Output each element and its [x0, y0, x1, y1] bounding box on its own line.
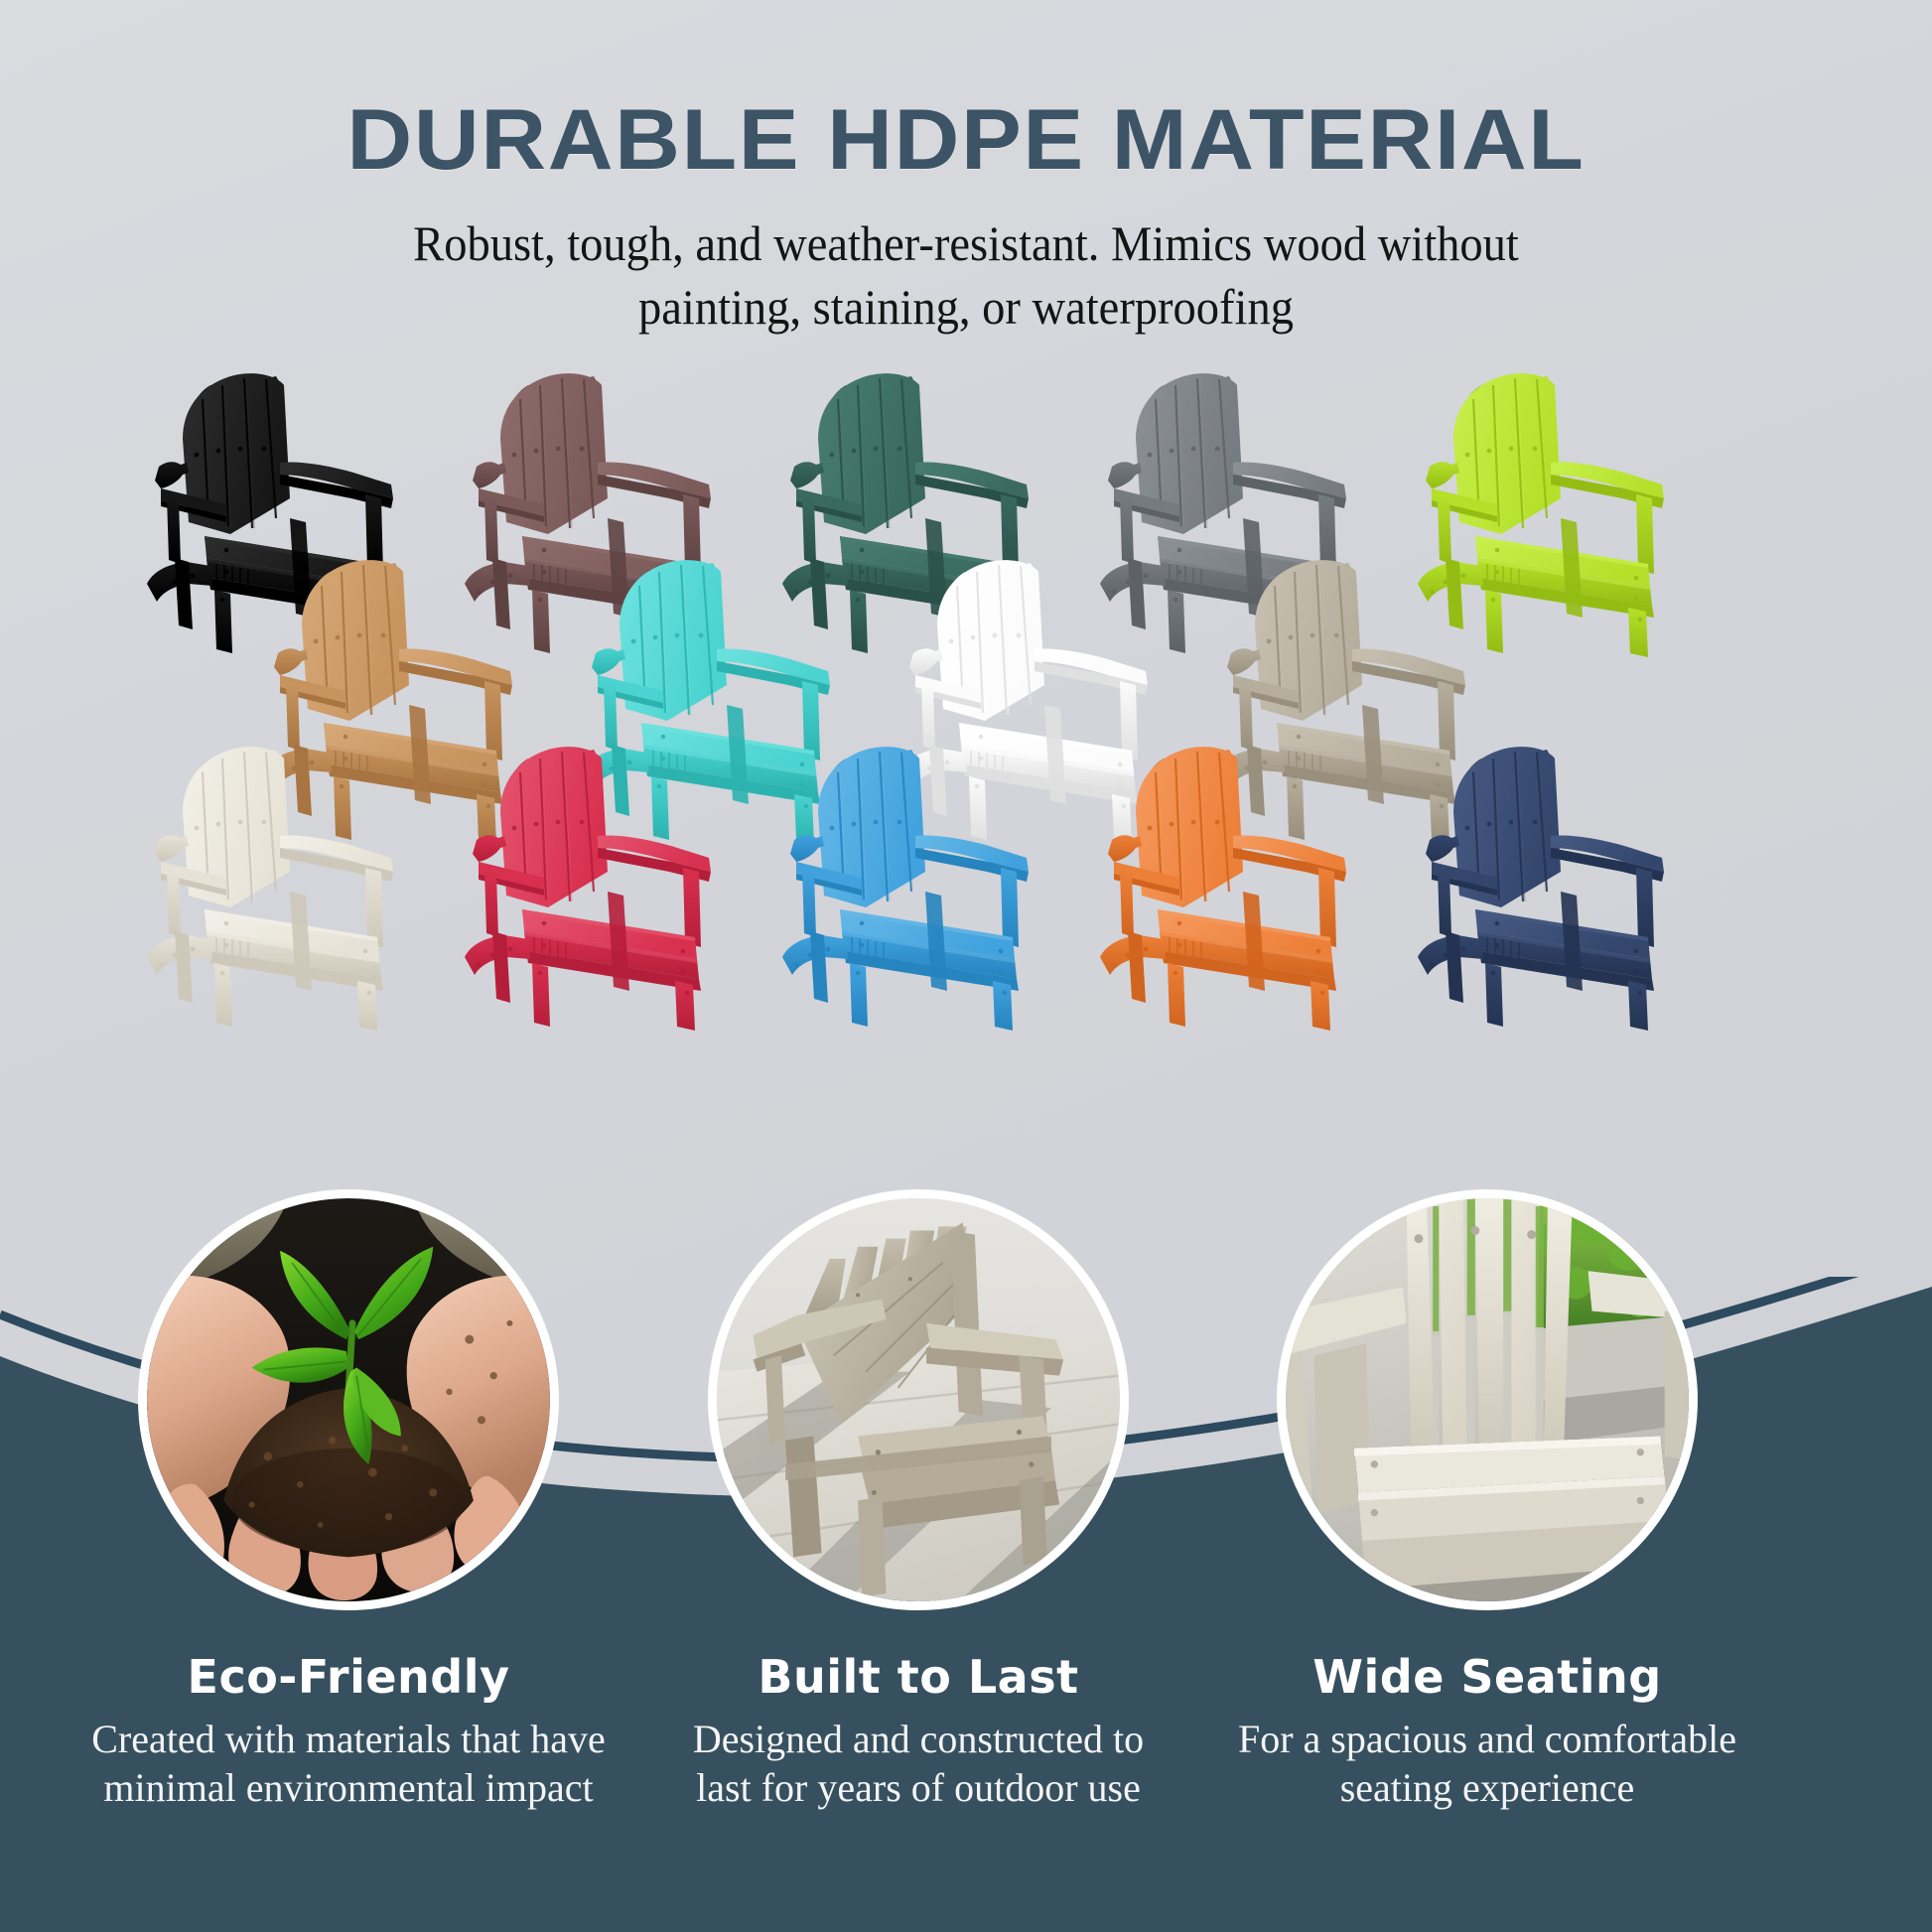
feature-image-eco-friendly	[138, 1189, 559, 1610]
feature-heading: Built to Last	[650, 1650, 1186, 1704]
adirondack-chair-orange-svg	[1084, 743, 1382, 1031]
chair-left-arm-post	[1438, 870, 1451, 937]
chair-left-armrest	[155, 462, 189, 488]
adirondack-chair-sky-blue-svg	[766, 743, 1064, 1031]
chair-left-armrest	[909, 648, 943, 675]
chair-left-arm-post	[484, 870, 498, 937]
feature-body-line-1: For a spacious and comfortable	[1219, 1716, 1755, 1764]
greige-chair-on-patio-photo	[717, 1198, 1120, 1601]
chair-left-arm-post	[286, 683, 300, 751]
subtitle-line-1: Robust, tough, and weather-resistant. Mi…	[320, 211, 1612, 275]
feature-body-line-2: minimal environmental impact	[80, 1764, 617, 1813]
feature-image-wide-seating	[1277, 1189, 1698, 1610]
chair-right-arm-post	[1001, 868, 1019, 947]
chair-right-arm-post	[1318, 868, 1336, 947]
chair-swatch-red[interactable]	[449, 743, 747, 1031]
chair-right-arm-post	[1636, 868, 1654, 947]
adirondack-chair-navy-svg	[1402, 743, 1700, 1031]
chair-left-armrest	[790, 835, 824, 862]
chair-left-arm-post	[484, 496, 498, 564]
chair-right-arm-post	[365, 868, 383, 947]
chair-left-armrest	[1108, 462, 1142, 488]
hands-soil-seedling-illustration	[147, 1198, 550, 1601]
chair-left-armrest	[592, 648, 625, 675]
feature-body: Created with materials that have minimal…	[80, 1716, 617, 1813]
chair-left-armrest	[473, 462, 506, 488]
page-subtitle: Robust, tough, and weather-resistant. Mi…	[320, 190, 1612, 339]
chair-left-armrest	[1426, 462, 1459, 488]
adirondack-chair-red-svg	[449, 743, 747, 1031]
infographic-canvas: DURABLE HDPE MATERIAL Robust, tough, and…	[0, 0, 1932, 1932]
feature-body-line-1: Created with materials that have	[80, 1716, 617, 1764]
feature-body: Designed and constructed to last for yea…	[650, 1716, 1186, 1813]
chair-right-arm-post	[1636, 494, 1654, 574]
chair-swatch-sky-blue[interactable]	[766, 743, 1064, 1031]
feature-caption-built-to-last: Built to Last Designed and constructed t…	[650, 1650, 1186, 1813]
chair-left-arm-post	[802, 496, 816, 564]
feature-caption-wide-seating: Wide Seating For a spacious and comforta…	[1219, 1650, 1755, 1813]
chair-swatch-navy[interactable]	[1402, 743, 1700, 1031]
feature-heading: Eco-Friendly	[80, 1650, 617, 1704]
chair-left-armrest	[1227, 648, 1261, 675]
chair-front-right-leg	[1311, 981, 1330, 1031]
chair-left-armrest	[155, 835, 189, 862]
chair-right-arm-post	[683, 868, 701, 947]
feature-image-built-to-last	[708, 1189, 1129, 1610]
chair-left-armrest	[1108, 835, 1142, 862]
adirondack-chair-ivory-svg	[131, 743, 429, 1031]
chair-swatch-ivory[interactable]	[131, 743, 429, 1031]
chair-left-arm-post	[167, 496, 181, 564]
cream-chair-seat-closeup-photo	[1286, 1198, 1689, 1601]
chair-front-right-leg	[1628, 981, 1648, 1031]
feature-body-line-1: Designed and constructed to	[650, 1716, 1186, 1764]
chair-front-right-leg	[357, 981, 377, 1031]
feature-body-line-2: last for years of outdoor use	[650, 1764, 1186, 1813]
chair-left-armrest	[1426, 835, 1459, 862]
chair-left-arm-post	[1438, 496, 1451, 564]
feature-heading: Wide Seating	[1219, 1650, 1755, 1704]
chair-left-arm-post	[167, 870, 181, 937]
chair-left-armrest	[790, 462, 824, 488]
feature-body: For a spacious and comfortable seating e…	[1219, 1716, 1755, 1813]
chair-left-arm-post	[1120, 870, 1134, 937]
chair-front-right-leg	[993, 981, 1013, 1031]
chair-left-arm-post	[1239, 683, 1253, 751]
header: DURABLE HDPE MATERIAL Robust, tough, and…	[0, 0, 1932, 339]
feature-caption-eco-friendly: Eco-Friendly Created with materials that…	[80, 1650, 617, 1813]
chair-left-arm-post	[802, 870, 816, 937]
chair-color-grid	[0, 369, 1932, 1243]
chair-left-arm-post	[1120, 496, 1134, 564]
chair-front-right-leg	[675, 981, 695, 1031]
chair-front-right-leg	[1628, 608, 1648, 657]
chair-left-armrest	[473, 835, 506, 862]
chair-left-arm-post	[921, 683, 935, 751]
subtitle-line-2: painting, staining, or waterproofing	[320, 275, 1612, 339]
chair-left-arm-post	[604, 683, 618, 751]
chair-left-armrest	[274, 648, 308, 675]
chair-swatch-orange[interactable]	[1084, 743, 1382, 1031]
feature-body-line-2: seating experience	[1219, 1764, 1755, 1813]
page-title: DURABLE HDPE MATERIAL	[0, 0, 1932, 190]
